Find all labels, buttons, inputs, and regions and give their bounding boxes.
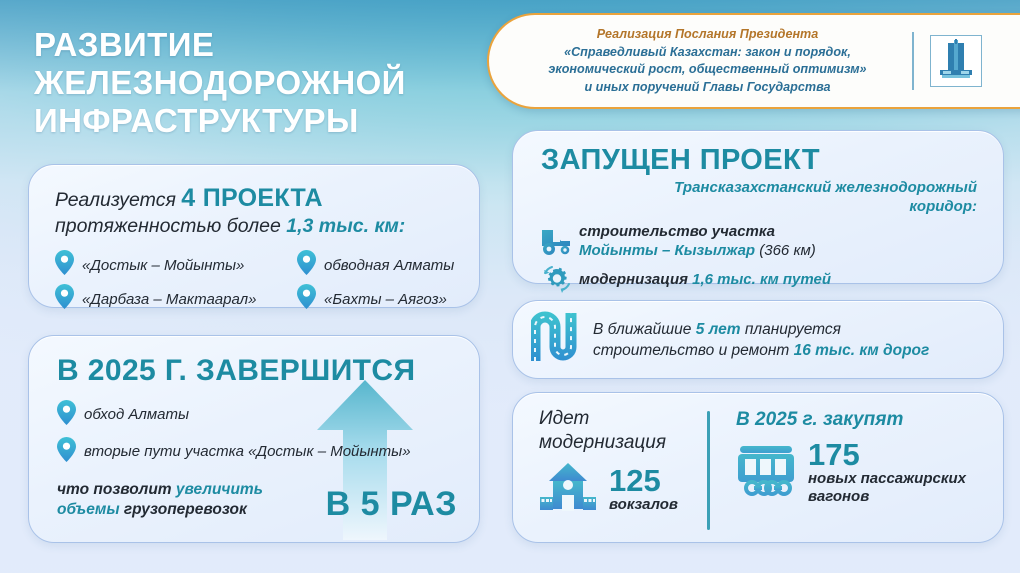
list-item-label: «Бахты – Аягоз» bbox=[324, 291, 447, 308]
list-item: модернизация 1,6 тыс. км путей bbox=[535, 263, 1003, 295]
presidential-message-badge: Реализация Послания Президента «Справедл… bbox=[487, 13, 1020, 109]
page-title-line-3: ИНФРАСТРУКТУРЫ bbox=[34, 102, 406, 140]
map-pin-icon bbox=[55, 284, 74, 314]
modernization-stats-card: Идет модернизация bbox=[512, 392, 1004, 543]
presidential-message-line-4: и иных поручений Главы Государства bbox=[584, 80, 830, 94]
presidential-message-line-3: экономический рост, общественный оптимиз… bbox=[548, 62, 866, 76]
completion-footer-prefix: что позволит bbox=[57, 481, 172, 498]
list-item: обводная Алматы bbox=[297, 250, 454, 280]
projects-pin-row: «Достык – Мойынты» обводная Алматы bbox=[55, 248, 479, 282]
train-car-icon bbox=[736, 444, 796, 501]
projects-lead: Реализуется bbox=[55, 189, 176, 211]
roads-middle: планируется bbox=[745, 321, 841, 338]
roads-card: В ближайшие 5 лет планируется строительс… bbox=[512, 300, 1004, 379]
roads-accent-years: 5 лет bbox=[696, 321, 741, 338]
list-item-label: модернизация 1,6 тыс. км путей bbox=[579, 270, 831, 289]
launched-item-0-line1: строительство участка bbox=[579, 223, 775, 240]
badge-divider bbox=[912, 32, 914, 90]
map-pin-icon bbox=[57, 437, 76, 467]
list-item-label: обход Алматы bbox=[84, 406, 189, 423]
list-item: обход Алматы bbox=[57, 396, 479, 433]
stats-left-heading: Идет модернизация bbox=[539, 407, 707, 455]
launched-subtitle-line-1: Трансказахстанский железнодорожный bbox=[674, 179, 977, 196]
page-title: РАЗВИТИЕ ЖЕЛЕЗНОДОРОЖНОЙ ИНФРАСТРУКТУРЫ bbox=[34, 26, 406, 140]
stats-divider bbox=[707, 411, 710, 530]
stats-left-group: Идет модернизация bbox=[539, 407, 707, 542]
list-item: «Дарбаза – Мактаарал» bbox=[55, 284, 297, 314]
list-item: вторые пути участка «Достык – Мойынты» bbox=[57, 433, 479, 470]
list-item: строительство участка Мойынты – Кызылжар… bbox=[535, 222, 1003, 260]
completion-multiplier: В 5 РАЗ bbox=[326, 485, 457, 524]
stations-stat: 125 вокзалов bbox=[539, 459, 707, 520]
projects-count: 4 ПРОЕКТА bbox=[181, 184, 323, 212]
list-item: «Бахты – Аягоз» bbox=[297, 284, 447, 314]
projects-card: Реализуется 4 ПРОЕКТА протяженностью бол… bbox=[28, 164, 480, 308]
projects-length-value: 1,3 тыс. км: bbox=[286, 215, 405, 237]
government-building-icon bbox=[930, 35, 982, 87]
launched-title: ЗАПУЩЕН ПРОЕКТ bbox=[541, 144, 1003, 177]
projects-heading: Реализуется 4 ПРОЕКТА протяженностью бол… bbox=[55, 185, 479, 239]
completion-footer: что позволит увеличить объемы грузоперев… bbox=[57, 480, 307, 520]
winding-road-icon bbox=[531, 311, 581, 368]
stations-count: 125 bbox=[609, 465, 678, 496]
projects-length-prefix: протяженностью более bbox=[55, 215, 281, 237]
presidential-message-text: Реализация Послания Президента «Справедл… bbox=[489, 26, 904, 96]
wagons-label: новых пассажирских вагонов bbox=[808, 470, 966, 505]
page-title-line-2: ЖЕЛЕЗНОДОРОЖНОЙ bbox=[34, 64, 406, 102]
launched-subtitle-line-2: коридор: bbox=[909, 198, 977, 215]
launched-subtitle: Трансказахстанский железнодорожный корид… bbox=[541, 178, 977, 216]
map-pin-icon bbox=[57, 400, 76, 430]
launched-item-1-accent: 1,6 тыс. км путей bbox=[692, 271, 831, 288]
roads-accent-distance: 16 тыс. км дорог bbox=[794, 342, 930, 359]
list-item-label: «Дарбаза – Мактаарал» bbox=[82, 291, 256, 308]
presidential-message-line-1: Реализация Послания Президента bbox=[511, 26, 904, 44]
wagons-stat-text: 175 новых пассажирских вагонов bbox=[808, 439, 966, 506]
projects-pin-row: «Дарбаза – Мактаарал» «Бахты – Аягоз» bbox=[55, 282, 479, 316]
stations-label: вокзалов bbox=[609, 496, 678, 513]
completion-footer-suffix: грузоперевозок bbox=[124, 501, 247, 518]
map-pin-icon bbox=[55, 250, 74, 280]
roads-text: В ближайшие 5 лет планируется строительс… bbox=[593, 319, 929, 361]
list-item-label: строительство участка Мойынты – Кызылжар… bbox=[579, 222, 816, 260]
projects-pin-list: «Достык – Мойынты» обводная Алматы «Дарб… bbox=[55, 248, 479, 316]
completion-pin-list: обход Алматы вторые пути участка «Достык… bbox=[57, 396, 479, 470]
launched-item-0-accent: Мойынты – Кызылжар bbox=[579, 242, 755, 259]
completion-card: В 2025 Г. ЗАВЕРШИТСЯ обход Алматы вторые… bbox=[28, 335, 480, 543]
launched-item-1-line1: модернизация bbox=[579, 271, 688, 288]
wagons-label-line-1: новых пассажирских bbox=[808, 470, 966, 487]
map-pin-icon bbox=[297, 284, 316, 314]
roads-line2-prefix: строительство и ремонт bbox=[593, 342, 789, 359]
stats-right-heading: В 2025 г. закупят bbox=[736, 409, 1003, 431]
list-item-label: обводная Алматы bbox=[324, 257, 454, 274]
wagons-label-line-2: вагонов bbox=[808, 488, 869, 505]
list-item-label: вторые пути участка «Достык – Мойынты» bbox=[84, 443, 411, 460]
launched-item-list: строительство участка Мойынты – Кызылжар… bbox=[535, 222, 1003, 295]
map-pin-icon bbox=[297, 250, 316, 280]
stats-right-group: В 2025 г. закупят bbox=[736, 407, 1003, 542]
wagons-count: 175 bbox=[808, 439, 966, 470]
wagons-stat: 175 новых пассажирских вагонов bbox=[736, 439, 1003, 506]
launched-project-card: ЗАПУЩЕН ПРОЕКТ Трансказахстанский железн… bbox=[512, 130, 1004, 284]
page-title-line-1: РАЗВИТИЕ bbox=[34, 26, 406, 64]
completion-title: В 2025 Г. ЗАВЕРШИТСЯ bbox=[57, 354, 479, 388]
stats-left-heading-line-2: модернизация bbox=[539, 432, 666, 453]
stations-stat-text: 125 вокзалов bbox=[609, 465, 678, 514]
gear-refresh-icon bbox=[535, 263, 579, 295]
presidential-message-line-2: «Справедливый Казахстан: закон и порядок… bbox=[564, 45, 851, 59]
roads-content: В ближайшие 5 лет планируется строительс… bbox=[513, 301, 1003, 378]
list-item: «Достык – Мойынты» bbox=[55, 250, 297, 280]
roads-prefix: В ближайшие bbox=[593, 321, 691, 338]
stats-left-heading-line-1: Идет bbox=[539, 408, 589, 429]
stats-content: Идет модернизация bbox=[513, 393, 1003, 542]
railway-station-icon bbox=[539, 459, 597, 520]
launched-item-0-suffix: (366 км) bbox=[759, 242, 816, 259]
list-item-label: «Достык – Мойынты» bbox=[82, 257, 244, 274]
tractor-icon bbox=[535, 226, 579, 256]
